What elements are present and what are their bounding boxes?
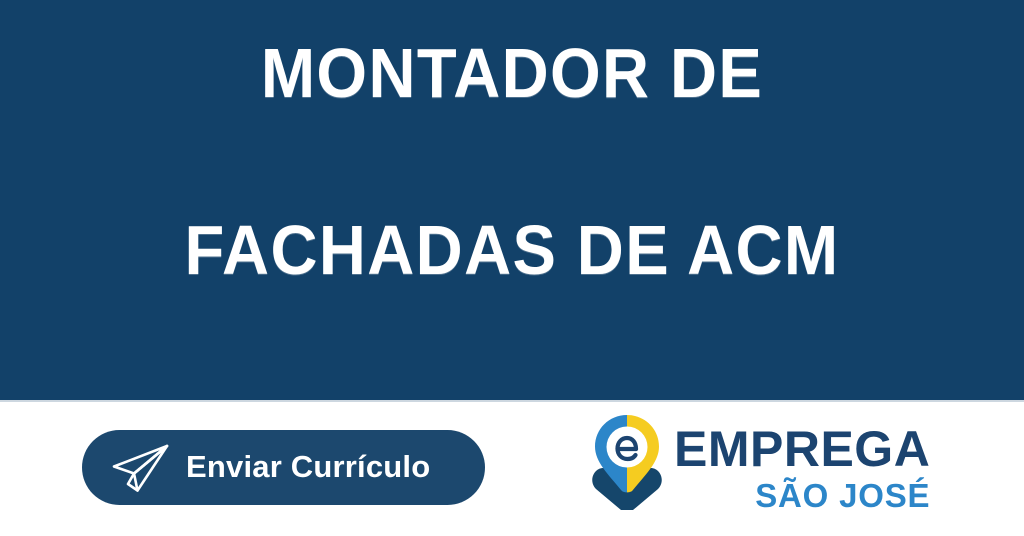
logo-wordmark-main: EMPREGA [674, 424, 930, 474]
logo-wordmark: EMPREGA SÃO JOSÉ [674, 412, 930, 512]
page-title-line-1: MONTADOR DE [36, 29, 988, 117]
emprega-sao-jose-logo[interactable]: EMPREGA SÃO JOSÉ [588, 412, 918, 518]
job-posting-banner: MONTADOR DE FACHADAS DE ACM Enviar Currí… [0, 0, 1024, 536]
map-pin-e-icon [588, 414, 666, 510]
hero-band: MONTADOR DE FACHADAS DE ACM [0, 0, 1024, 400]
send-resume-button[interactable]: Enviar Currículo [82, 430, 485, 505]
page-title: MONTADOR DE FACHADAS DE ACM [36, 0, 988, 382]
page-title-line-2: FACHADAS DE ACM [36, 206, 988, 294]
paper-plane-send-icon [110, 442, 172, 494]
send-resume-label: Enviar Currículo [186, 451, 430, 484]
logo-wordmark-sub: SÃO JOSÉ [755, 479, 930, 512]
